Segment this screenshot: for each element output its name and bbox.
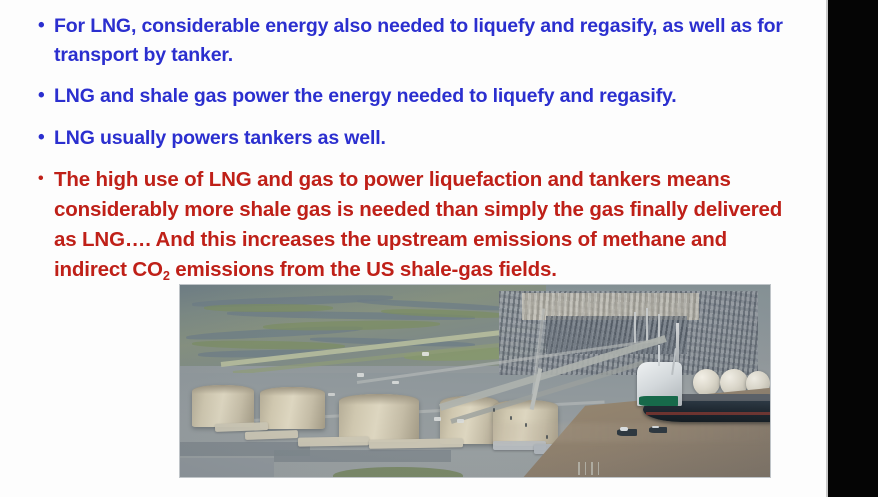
foreground-grass: [333, 467, 463, 477]
lng-storage-tank: [260, 387, 325, 429]
marsh-vegetation: [204, 304, 334, 312]
terminal-building: [369, 438, 464, 448]
lng-storage-tank: [192, 385, 254, 427]
letterbox-right-bar: [828, 0, 878, 497]
tugboat-wheelhouse: [652, 426, 659, 429]
tugboat-wheelhouse: [620, 427, 628, 430]
mooring-piling: [591, 462, 593, 475]
list-item: • The high use of LNG and gas to power l…: [38, 165, 788, 287]
bullet-text-1: For LNG, considerable energy also needed…: [54, 12, 788, 69]
lng-terminal-photo: [180, 285, 770, 477]
list-item: • For LNG, considerable energy also need…: [38, 12, 788, 69]
parked-vehicle: [457, 419, 464, 422]
mooring-piling: [598, 462, 600, 475]
pipe-rack-structure: [180, 458, 274, 477]
list-item: • LNG usually powers tankers as well.: [38, 124, 788, 153]
mooring-piling: [578, 462, 580, 475]
bullet-marker-icon: •: [38, 124, 54, 152]
co2-subscript: 2: [163, 268, 170, 283]
lng-carrier-mast: [658, 345, 660, 366]
light-pole: [493, 408, 495, 412]
plant-process-trains: [546, 316, 688, 354]
list-item: • LNG and shale gas power the energy nee…: [38, 82, 788, 111]
bullet-text-4: The high use of LNG and gas to power liq…: [54, 165, 788, 287]
parked-vehicle: [357, 373, 364, 376]
parked-vehicle: [328, 393, 335, 396]
terminal-building: [298, 436, 369, 446]
photo-canvas: [180, 285, 770, 477]
plant-stack: [646, 308, 648, 343]
slide-root: • For LNG, considerable energy also need…: [0, 0, 878, 497]
lng-carrier-green-band: [639, 396, 678, 406]
plant-stack: [634, 312, 636, 343]
bullet-text-4-part2: emissions from the US shale-gas fields.: [170, 258, 557, 281]
parked-vehicle: [434, 417, 441, 420]
bullet-text-3: LNG usually powers tankers as well.: [54, 124, 788, 153]
mooring-piling: [585, 462, 587, 475]
lng-storage-tank: [339, 394, 419, 442]
bullet-text-2: LNG and shale gas power the energy neede…: [54, 82, 788, 111]
parked-vehicle: [422, 352, 429, 355]
pipe-rack-structure: [274, 450, 451, 462]
bullet-marker-icon: •: [38, 12, 54, 40]
lng-carrier-boot-stripe: [646, 412, 770, 415]
light-pole: [546, 435, 548, 439]
bullet-list: • For LNG, considerable energy also need…: [0, 0, 828, 300]
bullet-marker-icon: •: [38, 82, 54, 110]
bullet-marker-icon: •: [38, 165, 54, 193]
